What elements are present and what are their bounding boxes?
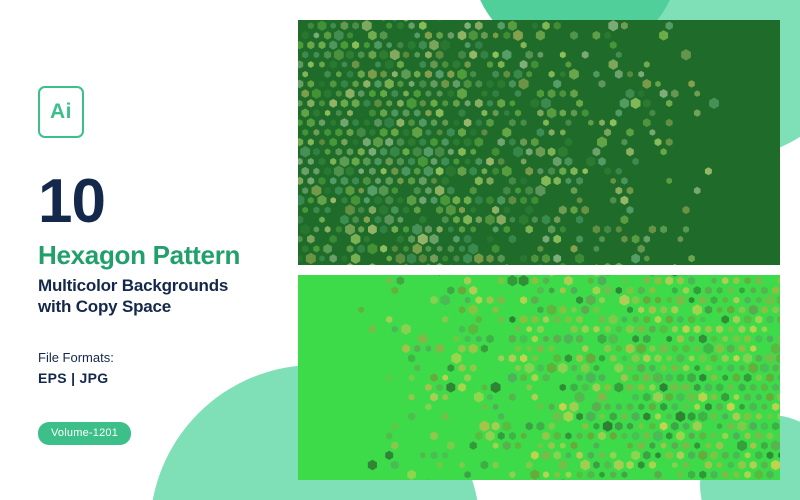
ai-badge-label: Ai	[50, 100, 72, 124]
page-title: Hexagon Pattern	[38, 242, 288, 269]
file-formats-label: File Formats:	[38, 350, 288, 365]
hexagon-preview-dark-green	[298, 20, 780, 265]
hexagon-pattern-bright-icon	[298, 275, 780, 480]
preview-gallery	[298, 20, 780, 480]
hexagon-preview-bright-green	[298, 275, 780, 480]
info-panel: Ai 10 Hexagon Pattern Multicolor Backgro…	[38, 86, 288, 445]
subtitle-line-2: with Copy Space	[38, 296, 288, 317]
poster-canvas: Ai 10 Hexagon Pattern Multicolor Backgro…	[0, 0, 800, 500]
adobe-illustrator-badge: Ai	[38, 86, 84, 138]
hexagon-pattern-dark-icon	[298, 20, 780, 265]
subtitle-line-1: Multicolor Backgrounds	[38, 275, 288, 296]
item-count: 10	[38, 174, 288, 230]
file-formats-value: EPS | JPG	[38, 370, 288, 386]
preview-divider-strip	[298, 265, 378, 275]
volume-badge: Volume-1201	[38, 422, 131, 445]
